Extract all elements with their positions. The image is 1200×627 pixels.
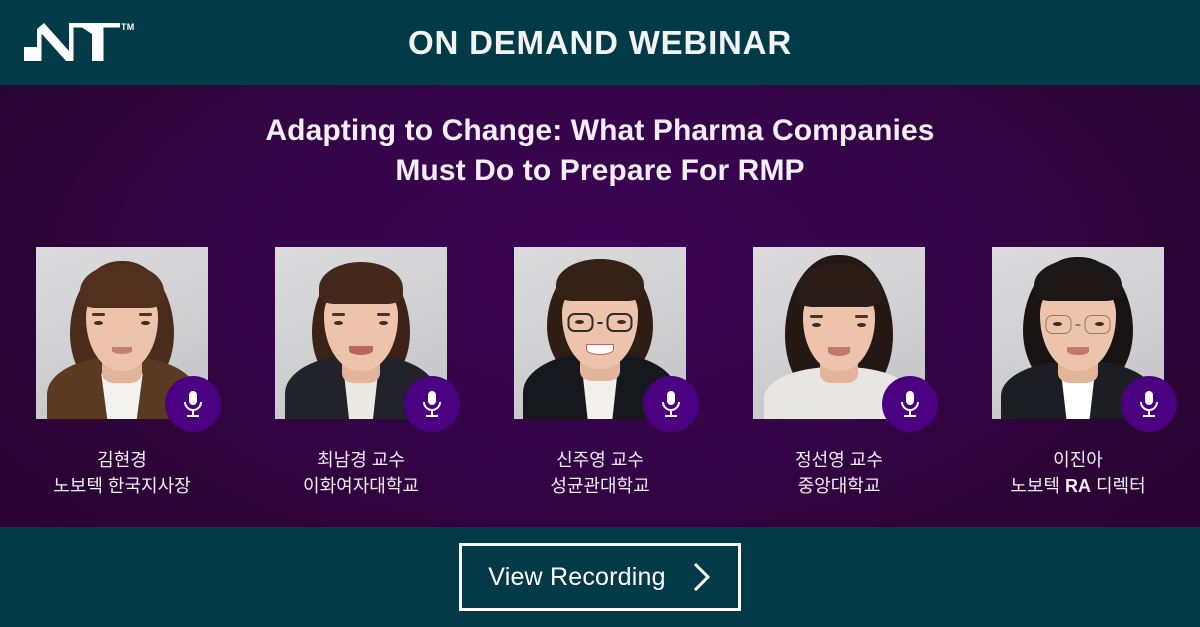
speaker-card: 정선영 교수 중앙대학교 <box>753 247 925 499</box>
view-recording-label: View Recording <box>488 563 665 592</box>
speaker-org: 노보텍 RA 디렉터 <box>1010 473 1145 499</box>
speaker-card: 김현경 노보텍 한국지사장 <box>36 247 208 499</box>
cta-band: View Recording <box>0 527 1200 627</box>
header-title: ON DEMAND WEBINAR <box>0 24 1200 62</box>
webinar-banner: TM ON DEMAND WEBINAR Adapting to Change:… <box>0 0 1200 627</box>
speaker-org: 성균관대학교 <box>550 473 649 499</box>
speaker-name: 이진아 <box>1053 447 1103 473</box>
speaker-photo <box>36 247 208 419</box>
speaker-name: 정선영 교수 <box>795 447 883 473</box>
speaker-name: 김현경 <box>97 447 147 473</box>
webinar-title-line-1: Adapting to Change: What Pharma Companie… <box>0 111 1200 151</box>
speaker-photo <box>275 247 447 419</box>
speaker-photo <box>753 247 925 419</box>
speaker-photo <box>514 247 686 419</box>
speaker-name: 최남경 교수 <box>317 447 405 473</box>
speaker-org: 노보텍 한국지사장 <box>53 473 190 499</box>
speaker-photo <box>992 247 1164 419</box>
speaker-card: 최남경 교수 이화여자대학교 <box>275 247 447 499</box>
speaker-list: 김현경 노보텍 한국지사장 <box>36 247 1164 499</box>
header-bar: TM ON DEMAND WEBINAR <box>0 0 1200 85</box>
chevron-right-icon <box>692 561 712 593</box>
trademark-symbol: TM <box>121 22 135 32</box>
main-stage: Adapting to Change: What Pharma Companie… <box>0 85 1200 527</box>
speaker-org: 이화여자대학교 <box>303 473 419 499</box>
webinar-title-line-2: Must Do to Prepare For RMP <box>0 151 1200 191</box>
view-recording-button[interactable]: View Recording <box>459 543 741 611</box>
speaker-org-suffix: 디렉터 <box>1091 476 1146 496</box>
speaker-card: 이진아 노보텍 RA 디렉터 <box>992 247 1164 499</box>
speaker-org: 중앙대학교 <box>798 473 881 499</box>
speaker-org-prefix: 노보텍 <box>1010 476 1065 496</box>
speaker-card: 신주영 교수 성균관대학교 <box>514 247 686 499</box>
microphone-icon <box>1121 376 1177 432</box>
microphone-icon <box>882 376 938 432</box>
speaker-name: 신주영 교수 <box>556 447 644 473</box>
microphone-icon <box>643 376 699 432</box>
novotech-logo: TM <box>20 17 140 67</box>
microphone-icon <box>165 376 221 432</box>
microphone-icon <box>404 376 460 432</box>
webinar-title: Adapting to Change: What Pharma Companie… <box>0 111 1200 191</box>
speaker-org-emphasis: RA <box>1065 476 1091 496</box>
